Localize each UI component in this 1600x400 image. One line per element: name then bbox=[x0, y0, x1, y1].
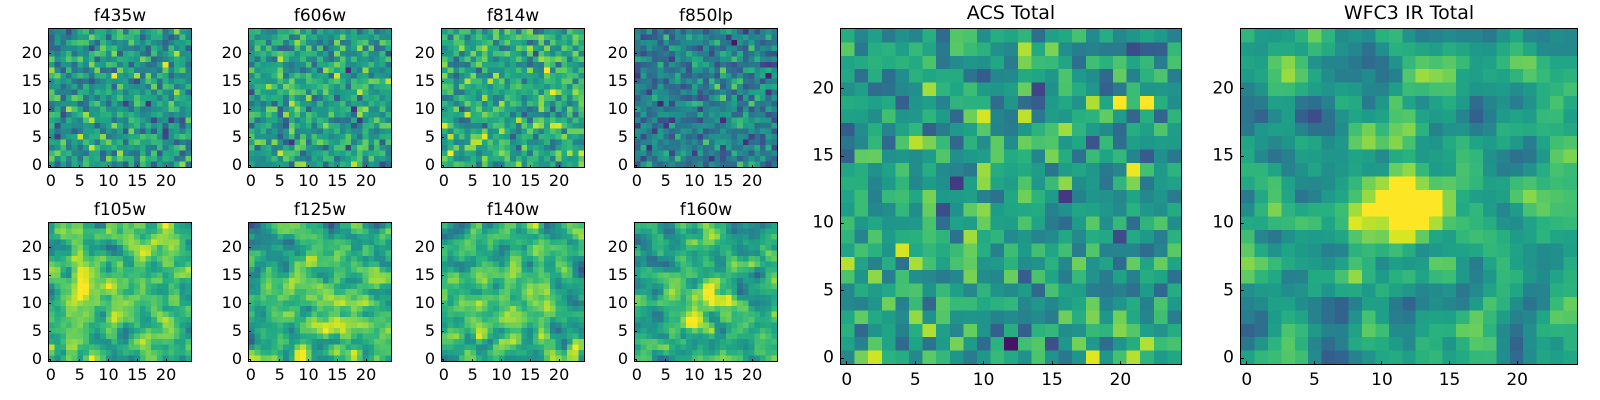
y-tick-f160w-2 bbox=[634, 303, 637, 304]
x-tick-f140w-3 bbox=[530, 359, 531, 362]
x-tick-f435w-4 bbox=[166, 165, 167, 168]
axes-f606w bbox=[248, 28, 392, 168]
y-ticklabel-f125w-0: 0 bbox=[202, 351, 242, 367]
x-ticklabel-f140w-1: 5 bbox=[468, 367, 478, 383]
x-tick-f105w-4 bbox=[166, 359, 167, 362]
x-tick-f160w-1 bbox=[665, 359, 666, 362]
y-ticklabel-f606w-1: 5 bbox=[202, 129, 242, 145]
x-ticklabel-acs-total-2: 10 bbox=[973, 372, 995, 389]
x-ticklabel-f160w-3: 15 bbox=[713, 367, 733, 383]
y-tick-wfc3-ir-total-2 bbox=[1240, 223, 1244, 224]
x-ticklabel-f606w-0: 0 bbox=[246, 173, 256, 189]
x-ticklabel-f814w-0: 0 bbox=[439, 173, 449, 189]
axes-f125w bbox=[248, 222, 392, 362]
x-ticklabel-f140w-3: 15 bbox=[520, 367, 540, 383]
x-ticklabel-f814w-3: 15 bbox=[520, 173, 540, 189]
y-tick-f606w-3 bbox=[248, 81, 251, 82]
panel-title-f606w: f606w bbox=[248, 6, 392, 26]
y-tick-f125w-2 bbox=[248, 303, 251, 304]
y-tick-acs-total-2 bbox=[840, 223, 844, 224]
x-ticklabel-f105w-4: 20 bbox=[156, 367, 176, 383]
heatmap-image-f606w bbox=[249, 29, 391, 167]
y-ticklabel-f850lp-2: 10 bbox=[588, 101, 628, 117]
x-tick-f160w-2 bbox=[694, 359, 695, 362]
y-tick-acs-total-0 bbox=[840, 358, 844, 359]
x-tick-acs-total-2 bbox=[983, 361, 984, 365]
y-ticklabel-f435w-3: 15 bbox=[2, 73, 42, 89]
x-ticklabel-f606w-4: 20 bbox=[356, 173, 376, 189]
x-tick-f850lp-3 bbox=[723, 165, 724, 168]
y-ticklabel-f814w-1: 5 bbox=[395, 129, 435, 145]
x-tick-f850lp-2 bbox=[694, 165, 695, 168]
panel-acs-total: ACS Total0510152005101520 bbox=[840, 28, 1182, 365]
x-tick-acs-total-3 bbox=[1052, 361, 1053, 365]
y-ticklabel-f814w-3: 15 bbox=[395, 73, 435, 89]
y-tick-f160w-4 bbox=[634, 247, 637, 248]
y-ticklabel-wfc3-ir-total-4: 20 bbox=[1194, 80, 1234, 97]
y-ticklabel-f160w-1: 5 bbox=[588, 323, 628, 339]
axes-f160w bbox=[634, 222, 778, 362]
x-ticklabel-f105w-1: 5 bbox=[75, 367, 85, 383]
x-tick-f606w-1 bbox=[279, 165, 280, 168]
x-tick-wfc3-ir-total-2 bbox=[1381, 361, 1382, 365]
panel-title-f140w: f140w bbox=[441, 200, 585, 220]
y-tick-f435w-2 bbox=[48, 109, 51, 110]
x-tick-wfc3-ir-total-1 bbox=[1314, 361, 1315, 365]
y-tick-f435w-4 bbox=[48, 53, 51, 54]
panel-f814w: f814w0510152005101520 bbox=[441, 28, 585, 168]
x-ticklabel-wfc3-ir-total-3: 15 bbox=[1439, 372, 1461, 389]
y-ticklabel-f105w-1: 5 bbox=[2, 323, 42, 339]
y-tick-wfc3-ir-total-1 bbox=[1240, 290, 1244, 291]
x-ticklabel-f606w-3: 15 bbox=[327, 173, 347, 189]
x-ticklabel-f105w-2: 10 bbox=[98, 367, 118, 383]
x-tick-wfc3-ir-total-0 bbox=[1246, 361, 1247, 365]
y-tick-f435w-1 bbox=[48, 137, 51, 138]
y-tick-f160w-3 bbox=[634, 275, 637, 276]
x-tick-f140w-4 bbox=[559, 359, 560, 362]
panel-f125w: f125w0510152005101520 bbox=[248, 222, 392, 362]
x-ticklabel-f140w-2: 10 bbox=[491, 367, 511, 383]
axes-f140w bbox=[441, 222, 585, 362]
y-tick-f105w-4 bbox=[48, 247, 51, 248]
panel-title-f105w: f105w bbox=[48, 200, 192, 220]
y-ticklabel-f435w-1: 5 bbox=[2, 129, 42, 145]
y-tick-acs-total-1 bbox=[840, 290, 844, 291]
x-ticklabel-f850lp-0: 0 bbox=[632, 173, 642, 189]
heatmap-image-f125w bbox=[249, 223, 391, 361]
y-ticklabel-f435w-4: 20 bbox=[2, 45, 42, 61]
panel-f850lp: f850lp0510152005101520 bbox=[634, 28, 778, 168]
x-ticklabel-acs-total-1: 5 bbox=[910, 372, 921, 389]
x-ticklabel-f435w-1: 5 bbox=[75, 173, 85, 189]
y-tick-f105w-0 bbox=[48, 359, 51, 360]
y-ticklabel-f814w-4: 20 bbox=[395, 45, 435, 61]
axes-f850lp bbox=[634, 28, 778, 168]
y-tick-f435w-0 bbox=[48, 165, 51, 166]
x-ticklabel-acs-total-3: 15 bbox=[1041, 372, 1063, 389]
x-tick-f606w-4 bbox=[366, 165, 367, 168]
panel-f606w: f606w0510152005101520 bbox=[248, 28, 392, 168]
x-tick-f105w-3 bbox=[137, 359, 138, 362]
y-ticklabel-f140w-1: 5 bbox=[395, 323, 435, 339]
y-ticklabel-f606w-4: 20 bbox=[202, 45, 242, 61]
x-tick-f435w-1 bbox=[79, 165, 80, 168]
y-ticklabel-f140w-0: 0 bbox=[395, 351, 435, 367]
x-ticklabel-f606w-2: 10 bbox=[298, 173, 318, 189]
figure-canvas: f435w0510152005101520f606w05101520051015… bbox=[0, 0, 1600, 400]
x-tick-f140w-2 bbox=[501, 359, 502, 362]
x-tick-f105w-2 bbox=[108, 359, 109, 362]
heatmap-image-f140w bbox=[442, 223, 584, 361]
heatmap-image-acs-total bbox=[841, 29, 1181, 364]
x-ticklabel-acs-total-0: 0 bbox=[841, 372, 852, 389]
y-ticklabel-f606w-2: 10 bbox=[202, 101, 242, 117]
axes-f814w bbox=[441, 28, 585, 168]
x-tick-f850lp-1 bbox=[665, 165, 666, 168]
y-tick-f125w-3 bbox=[248, 275, 251, 276]
y-ticklabel-f850lp-1: 5 bbox=[588, 129, 628, 145]
x-tick-acs-total-1 bbox=[915, 361, 916, 365]
panel-f140w: f140w0510152005101520 bbox=[441, 222, 585, 362]
y-ticklabel-f140w-2: 10 bbox=[395, 295, 435, 311]
y-ticklabel-acs-total-4: 20 bbox=[794, 80, 834, 97]
axes-f435w bbox=[48, 28, 192, 168]
x-tick-f125w-4 bbox=[366, 359, 367, 362]
y-ticklabel-wfc3-ir-total-0: 0 bbox=[1194, 350, 1234, 367]
y-tick-f814w-0 bbox=[441, 165, 444, 166]
y-ticklabel-f160w-2: 10 bbox=[588, 295, 628, 311]
x-ticklabel-f850lp-4: 20 bbox=[742, 173, 762, 189]
y-tick-f125w-1 bbox=[248, 331, 251, 332]
y-tick-f140w-3 bbox=[441, 275, 444, 276]
y-tick-f105w-2 bbox=[48, 303, 51, 304]
x-tick-f814w-1 bbox=[472, 165, 473, 168]
x-ticklabel-wfc3-ir-total-2: 10 bbox=[1371, 372, 1393, 389]
x-ticklabel-f140w-4: 20 bbox=[549, 367, 569, 383]
y-tick-f850lp-4 bbox=[634, 53, 637, 54]
x-ticklabel-f814w-4: 20 bbox=[549, 173, 569, 189]
x-tick-f435w-3 bbox=[137, 165, 138, 168]
y-tick-f160w-1 bbox=[634, 331, 637, 332]
y-ticklabel-f435w-0: 0 bbox=[2, 157, 42, 173]
x-ticklabel-f850lp-2: 10 bbox=[684, 173, 704, 189]
heatmap-image-f850lp bbox=[635, 29, 777, 167]
x-tick-f606w-2 bbox=[308, 165, 309, 168]
axes-wfc3-ir-total bbox=[1240, 28, 1578, 365]
panel-title-f435w: f435w bbox=[48, 6, 192, 26]
y-ticklabel-f160w-0: 0 bbox=[588, 351, 628, 367]
panel-title-f160w: f160w bbox=[634, 200, 778, 220]
y-tick-f105w-1 bbox=[48, 331, 51, 332]
x-tick-f125w-3 bbox=[337, 359, 338, 362]
y-ticklabel-f105w-2: 10 bbox=[2, 295, 42, 311]
y-ticklabel-f850lp-0: 0 bbox=[588, 157, 628, 173]
axes-f105w bbox=[48, 222, 192, 362]
x-ticklabel-f435w-4: 20 bbox=[156, 173, 176, 189]
panel-wfc3-ir-total: WFC3 IR Total0510152005101520 bbox=[1240, 28, 1578, 365]
y-tick-f850lp-2 bbox=[634, 109, 637, 110]
x-ticklabel-f850lp-1: 5 bbox=[661, 173, 671, 189]
heatmap-image-f814w bbox=[442, 29, 584, 167]
y-ticklabel-f814w-0: 0 bbox=[395, 157, 435, 173]
x-tick-f435w-2 bbox=[108, 165, 109, 168]
x-ticklabel-f125w-4: 20 bbox=[356, 367, 376, 383]
y-ticklabel-f606w-0: 0 bbox=[202, 157, 242, 173]
x-ticklabel-f850lp-3: 15 bbox=[713, 173, 733, 189]
x-ticklabel-f160w-1: 5 bbox=[661, 367, 671, 383]
x-tick-acs-total-0 bbox=[846, 361, 847, 365]
y-ticklabel-acs-total-0: 0 bbox=[794, 350, 834, 367]
x-ticklabel-f105w-0: 0 bbox=[46, 367, 56, 383]
panel-title-f125w: f125w bbox=[248, 200, 392, 220]
x-tick-f606w-3 bbox=[337, 165, 338, 168]
panel-f435w: f435w0510152005101520 bbox=[48, 28, 192, 168]
y-tick-wfc3-ir-total-3 bbox=[1240, 156, 1244, 157]
y-ticklabel-f125w-2: 10 bbox=[202, 295, 242, 311]
x-ticklabel-wfc3-ir-total-0: 0 bbox=[1241, 372, 1252, 389]
x-ticklabel-acs-total-4: 20 bbox=[1110, 372, 1132, 389]
x-tick-acs-total-4 bbox=[1120, 361, 1121, 365]
panel-title-f814w: f814w bbox=[441, 6, 585, 26]
y-tick-f435w-3 bbox=[48, 81, 51, 82]
y-tick-acs-total-4 bbox=[840, 88, 844, 89]
y-tick-f140w-4 bbox=[441, 247, 444, 248]
x-ticklabel-wfc3-ir-total-4: 20 bbox=[1506, 372, 1528, 389]
panel-f105w: f105w0510152005101520 bbox=[48, 222, 192, 362]
x-tick-f140w-1 bbox=[472, 359, 473, 362]
y-ticklabel-f125w-4: 20 bbox=[202, 239, 242, 255]
y-ticklabel-f435w-2: 10 bbox=[2, 101, 42, 117]
y-ticklabel-wfc3-ir-total-1: 5 bbox=[1194, 282, 1234, 299]
y-tick-wfc3-ir-total-0 bbox=[1240, 358, 1244, 359]
panel-title-f850lp: f850lp bbox=[634, 6, 778, 26]
y-ticklabel-f160w-4: 20 bbox=[588, 239, 628, 255]
x-tick-f814w-3 bbox=[530, 165, 531, 168]
y-ticklabel-f140w-3: 15 bbox=[395, 267, 435, 283]
y-tick-wfc3-ir-total-4 bbox=[1240, 88, 1244, 89]
x-ticklabel-f435w-3: 15 bbox=[127, 173, 147, 189]
y-tick-f606w-4 bbox=[248, 53, 251, 54]
x-tick-wfc3-ir-total-3 bbox=[1449, 361, 1450, 365]
x-ticklabel-f435w-2: 10 bbox=[98, 173, 118, 189]
x-ticklabel-f140w-0: 0 bbox=[439, 367, 449, 383]
y-tick-f850lp-0 bbox=[634, 165, 637, 166]
x-ticklabel-f606w-1: 5 bbox=[275, 173, 285, 189]
y-ticklabel-f850lp-3: 15 bbox=[588, 73, 628, 89]
x-ticklabel-f125w-3: 15 bbox=[327, 367, 347, 383]
x-tick-f125w-2 bbox=[308, 359, 309, 362]
y-tick-f160w-0 bbox=[634, 359, 637, 360]
y-ticklabel-f850lp-4: 20 bbox=[588, 45, 628, 61]
x-ticklabel-wfc3-ir-total-1: 5 bbox=[1309, 372, 1320, 389]
x-tick-f125w-1 bbox=[279, 359, 280, 362]
x-ticklabel-f435w-0: 0 bbox=[46, 173, 56, 189]
y-tick-f814w-1 bbox=[441, 137, 444, 138]
heatmap-image-wfc3-ir-total bbox=[1241, 29, 1577, 364]
heatmap-image-f435w bbox=[49, 29, 191, 167]
y-ticklabel-f105w-4: 20 bbox=[2, 239, 42, 255]
heatmap-image-f105w bbox=[49, 223, 191, 361]
y-tick-f140w-1 bbox=[441, 331, 444, 332]
x-ticklabel-f125w-2: 10 bbox=[298, 367, 318, 383]
panel-title-wfc3-ir-total: WFC3 IR Total bbox=[1240, 2, 1578, 24]
y-tick-f814w-3 bbox=[441, 81, 444, 82]
y-tick-f606w-1 bbox=[248, 137, 251, 138]
y-tick-f105w-3 bbox=[48, 275, 51, 276]
y-tick-f606w-0 bbox=[248, 165, 251, 166]
y-tick-acs-total-3 bbox=[840, 156, 844, 157]
x-ticklabel-f125w-0: 0 bbox=[246, 367, 256, 383]
x-ticklabel-f160w-0: 0 bbox=[632, 367, 642, 383]
y-ticklabel-acs-total-3: 15 bbox=[794, 148, 834, 165]
y-ticklabel-acs-total-2: 10 bbox=[794, 215, 834, 232]
y-tick-f814w-4 bbox=[441, 53, 444, 54]
y-ticklabel-f125w-1: 5 bbox=[202, 323, 242, 339]
y-tick-f606w-2 bbox=[248, 109, 251, 110]
y-tick-f140w-0 bbox=[441, 359, 444, 360]
y-ticklabel-f606w-3: 15 bbox=[202, 73, 242, 89]
heatmap-image-f160w bbox=[635, 223, 777, 361]
y-tick-f125w-4 bbox=[248, 247, 251, 248]
x-tick-f850lp-4 bbox=[752, 165, 753, 168]
y-tick-f140w-2 bbox=[441, 303, 444, 304]
y-ticklabel-f105w-0: 0 bbox=[2, 351, 42, 367]
x-tick-wfc3-ir-total-4 bbox=[1517, 361, 1518, 365]
y-tick-f125w-0 bbox=[248, 359, 251, 360]
x-ticklabel-f160w-2: 10 bbox=[684, 367, 704, 383]
y-ticklabel-f125w-3: 15 bbox=[202, 267, 242, 283]
x-tick-f105w-1 bbox=[79, 359, 80, 362]
axes-acs-total bbox=[840, 28, 1182, 365]
y-ticklabel-wfc3-ir-total-3: 15 bbox=[1194, 148, 1234, 165]
x-tick-f160w-3 bbox=[723, 359, 724, 362]
y-ticklabel-f814w-2: 10 bbox=[395, 101, 435, 117]
x-tick-f160w-4 bbox=[752, 359, 753, 362]
x-ticklabel-f160w-4: 20 bbox=[742, 367, 762, 383]
y-tick-f850lp-3 bbox=[634, 81, 637, 82]
x-tick-f814w-2 bbox=[501, 165, 502, 168]
x-ticklabel-f105w-3: 15 bbox=[127, 367, 147, 383]
y-tick-f814w-2 bbox=[441, 109, 444, 110]
y-ticklabel-f140w-4: 20 bbox=[395, 239, 435, 255]
panel-f160w: f160w0510152005101520 bbox=[634, 222, 778, 362]
y-ticklabel-f160w-3: 15 bbox=[588, 267, 628, 283]
x-ticklabel-f125w-1: 5 bbox=[275, 367, 285, 383]
x-tick-f814w-4 bbox=[559, 165, 560, 168]
x-ticklabel-f814w-1: 5 bbox=[468, 173, 478, 189]
x-ticklabel-f814w-2: 10 bbox=[491, 173, 511, 189]
panel-title-acs-total: ACS Total bbox=[840, 2, 1182, 24]
y-ticklabel-wfc3-ir-total-2: 10 bbox=[1194, 215, 1234, 232]
y-tick-f850lp-1 bbox=[634, 137, 637, 138]
y-ticklabel-f105w-3: 15 bbox=[2, 267, 42, 283]
y-ticklabel-acs-total-1: 5 bbox=[794, 282, 834, 299]
